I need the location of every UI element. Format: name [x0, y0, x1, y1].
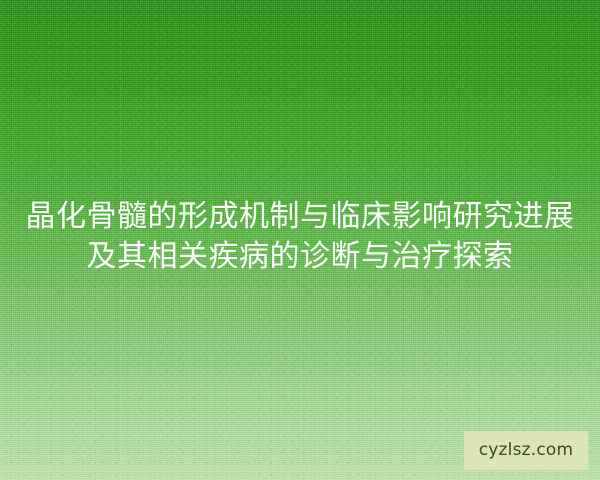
page-title: 晶化骨髓的形成机制与临床影响研究进展 及其相关疾病的诊断与治疗探索: [0, 197, 600, 277]
watermark-text: cyzlsz.com: [479, 442, 574, 459]
cover-canvas: 晶化骨髓的形成机制与临床影响研究进展 及其相关疾病的诊断与治疗探索 cyzlsz…: [0, 0, 600, 480]
title-line-1: 晶化骨髓的形成机制与临床影响研究进展: [0, 197, 600, 237]
title-line-2: 及其相关疾病的诊断与治疗探索: [0, 237, 600, 277]
watermark-badge: cyzlsz.com: [464, 431, 588, 470]
